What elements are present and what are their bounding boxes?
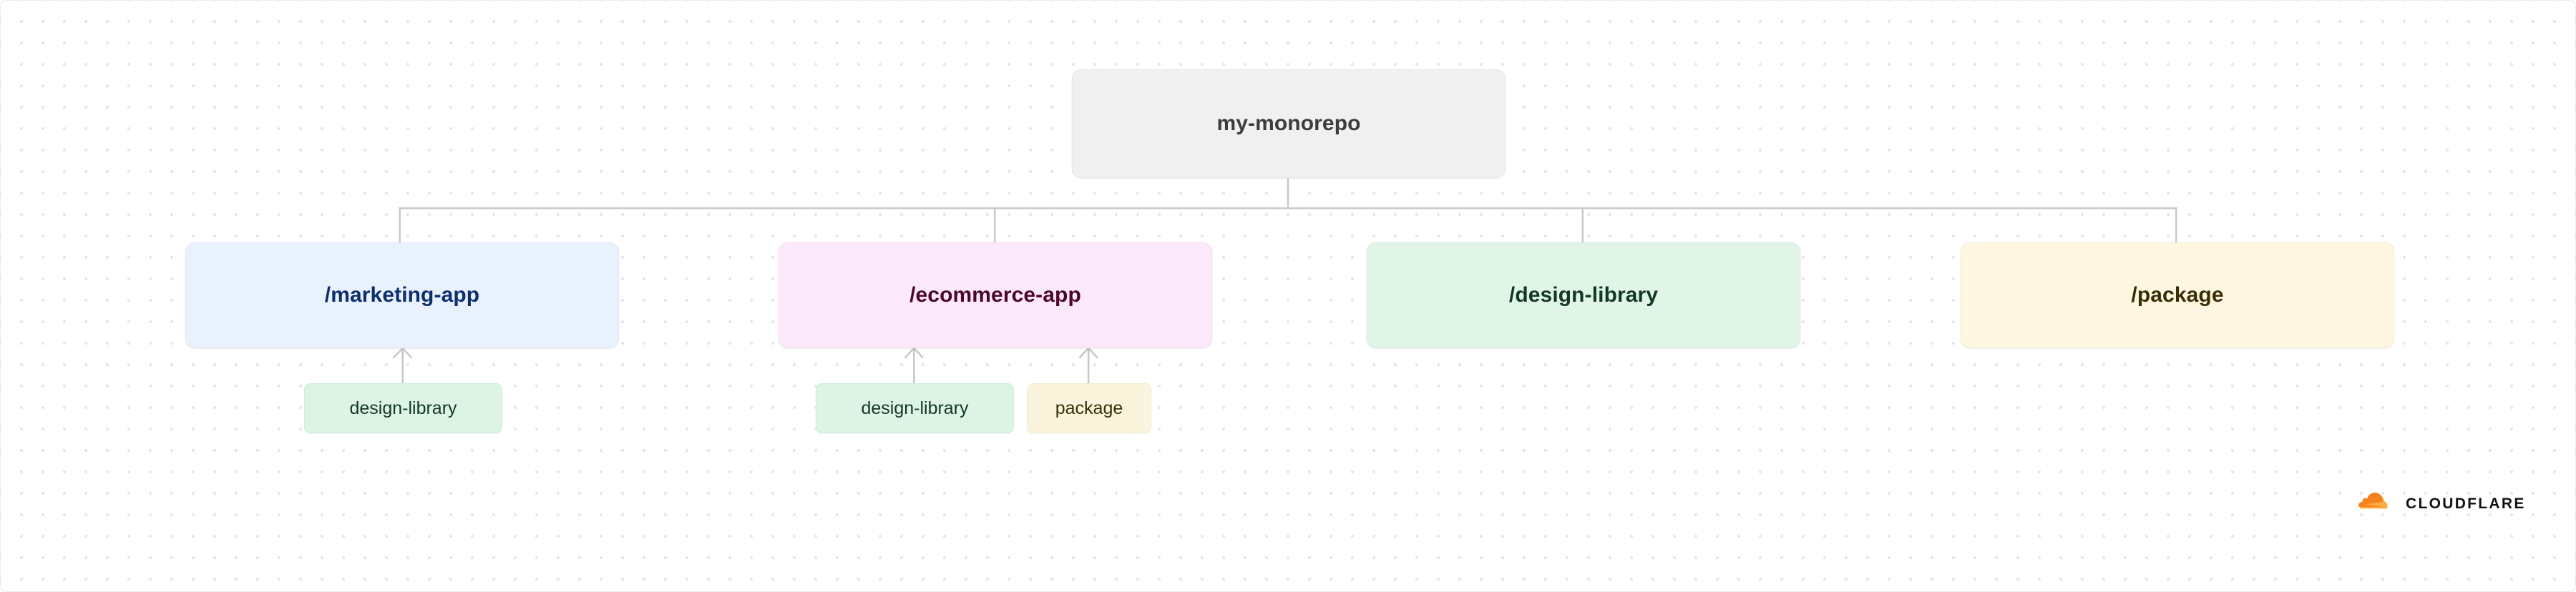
- dependency-pill-label: design-library: [861, 400, 968, 418]
- node-label: my-monorepo: [1216, 113, 1360, 134]
- dependency-pill-label: package: [1055, 400, 1123, 418]
- node-label: /package: [2131, 285, 2223, 306]
- node-ecommerce-app[interactable]: /ecommerce-app: [779, 242, 1212, 348]
- dependency-pill-ecommerce-package[interactable]: package: [1027, 383, 1151, 433]
- diagram-canvas: my-monorepo /marketing-app /ecommerce-ap…: [0, 0, 2576, 592]
- dependency-pill-marketing-design-library[interactable]: design-library: [304, 383, 502, 433]
- cloudflare-brand: CLOUDFLARE: [2353, 493, 2526, 514]
- arrowhead-ecommerce-package: [1080, 348, 1097, 357]
- node-my-monorepo[interactable]: my-monorepo: [1072, 69, 1506, 178]
- dependency-pill-label: design-library: [349, 400, 457, 418]
- node-label: /marketing-app: [325, 285, 479, 306]
- node-label: /design-library: [1509, 285, 1658, 306]
- node-label: /ecommerce-app: [909, 285, 1081, 306]
- node-package[interactable]: /package: [1961, 242, 2394, 348]
- node-marketing-app[interactable]: /marketing-app: [185, 242, 619, 348]
- arrowhead-marketing-design-library: [394, 348, 411, 357]
- arrowhead-ecommerce-design-library: [905, 348, 922, 357]
- cloudflare-cloud-icon: [2353, 493, 2398, 514]
- node-design-library[interactable]: /design-library: [1367, 242, 1800, 348]
- cloudflare-wordmark: CLOUDFLARE: [2406, 496, 2526, 511]
- dependency-pill-ecommerce-design-library[interactable]: design-library: [816, 383, 1014, 433]
